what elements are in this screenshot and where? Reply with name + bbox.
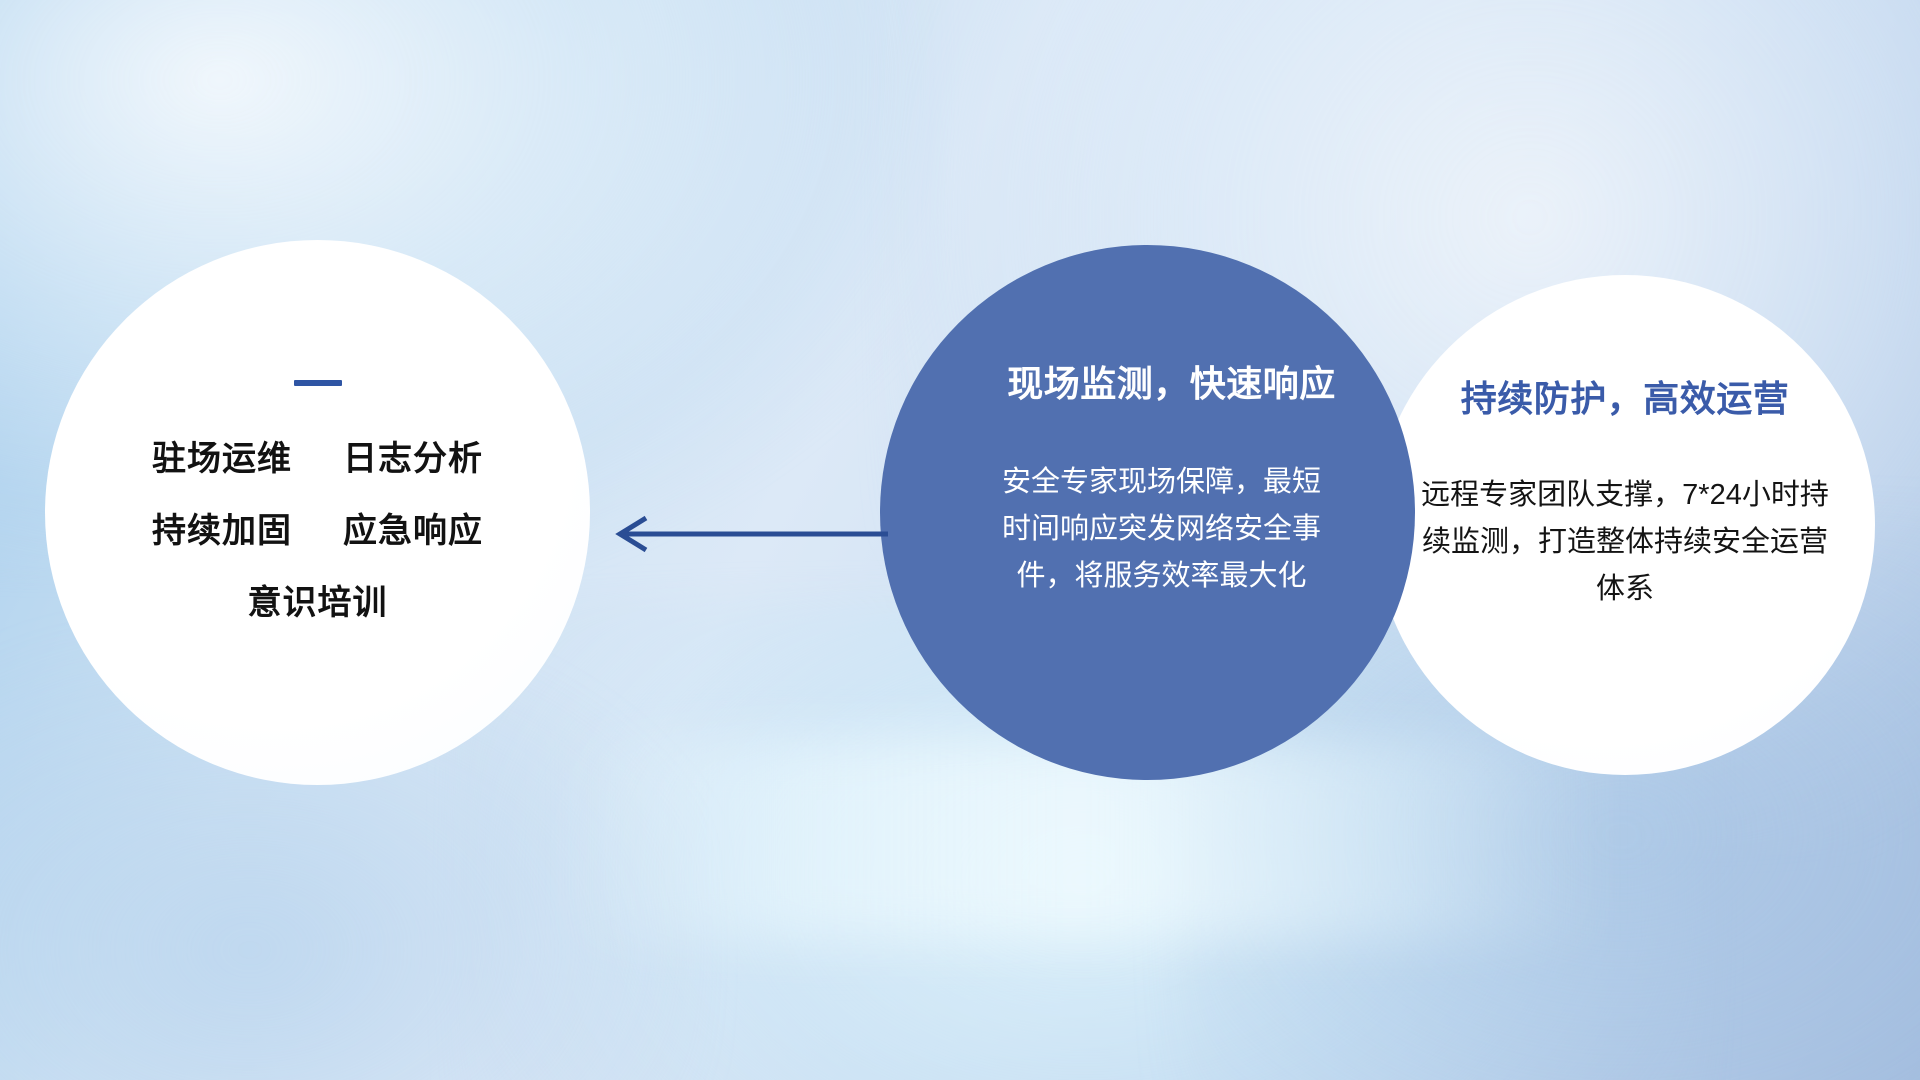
continuous-content: 持续防护，高效运营 远程专家团队支撑，7*24小时持续监测，打造整体持续安全运营… <box>1375 275 1875 775</box>
horizontal-dash-icon <box>294 380 342 386</box>
slide-canvas: 驻场运维 日志分析 持续加固 应急响应 意识培训 现场监测，快速响应 安全专家现… <box>0 0 1920 1080</box>
keyword-onsite-ops: 驻场运维 <box>152 440 292 478</box>
onsite-body: 安全专家现场保障，最短时间响应突发网络安全事件，将服务效率最大化 <box>992 459 1332 600</box>
onsite-content: 现场监测，快速响应 安全专家现场保障，最短时间响应突发网络安全事件，将服务效率最… <box>880 245 1415 780</box>
keyword-row-3: 意识培训 <box>248 586 388 620</box>
onsite-heading: 现场监测，快速响应 <box>1007 355 1336 407</box>
keyword-continuous-hardening: 持续加固 <box>152 512 292 550</box>
capabilities-content: 驻场运维 日志分析 持续加固 应急响应 意识培训 <box>45 240 590 785</box>
continuous-body: 远程专家团队支撑，7*24小时持续监测，打造整体持续安全运营体系 <box>1410 472 1840 613</box>
keyword-row-1: 驻场运维 日志分析 <box>152 442 483 476</box>
keyword-row-2: 持续加固 应急响应 <box>152 514 483 548</box>
keyword-log-analysis: 日志分析 <box>343 440 483 478</box>
keyword-awareness-training: 意识培训 <box>248 584 388 622</box>
continuous-heading: 持续防护，高效运营 <box>1461 370 1790 422</box>
keyword-emergency-response: 应急响应 <box>343 512 483 550</box>
arrow-left-icon <box>600 512 890 556</box>
